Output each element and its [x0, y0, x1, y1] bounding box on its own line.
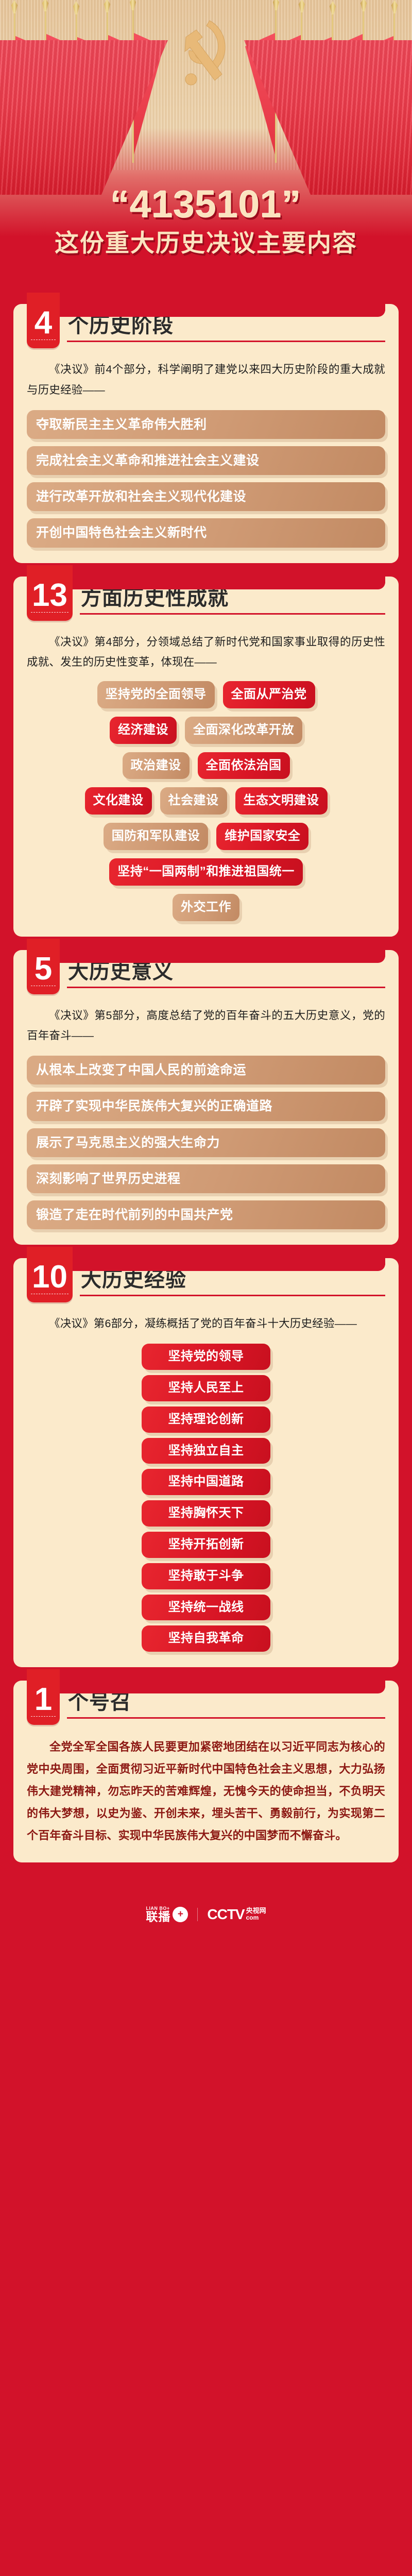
sections-container: 4个历史阶段《决议》前4个部分，科学阐明了建党以来四大历史阶段的重大成就与历史经…	[0, 304, 412, 1862]
hero-title-block: “4135101” 这份重大历史决议主要内容	[0, 185, 412, 257]
list-item[interactable]: 文化建设	[85, 787, 152, 815]
footer-logos: LIAN BO+ 联播 + CCTV 央视网 com	[0, 1876, 412, 1953]
card-top-notch	[27, 576, 385, 589]
section-card-5: 5大历史意义《决议》第5部分，高度总结了党的百年奋斗的五大历史意义，党的百年奋斗…	[13, 950, 399, 1245]
list-item[interactable]: 展示了马克思主义的强大生命力	[27, 1128, 385, 1157]
pill-row: 坚持党的全面领导全面从严治党	[27, 681, 385, 708]
pill-row: 外交工作	[27, 894, 385, 921]
section-heading-text: 方面历史性成就	[81, 586, 229, 610]
pill-row: 政治建设全面依法治国	[27, 752, 385, 779]
section-description: 《决议》前4个部分，科学阐明了建党以来四大历史阶段的重大成就与历史经验——	[27, 360, 385, 401]
section-card-4: 4个历史阶段《决议》前4个部分，科学阐明了建党以来四大历史阶段的重大成就与历史经…	[13, 304, 399, 563]
list-item[interactable]: 经济建设	[110, 717, 177, 744]
list-item[interactable]: 国防和军队建设	[104, 823, 209, 850]
footer-divider	[197, 1908, 198, 1921]
list-item[interactable]: 政治建设	[123, 752, 190, 779]
section-number-badge: 4	[27, 293, 60, 348]
section-number-badge: 13	[27, 565, 73, 621]
hero-banner: “4135101” 这份重大历史决议主要内容	[0, 0, 412, 304]
section-number-badge: 10	[27, 1247, 73, 1302]
cctv-logo-com: com	[246, 1914, 266, 1921]
list-item[interactable]: 坚持自我革命	[142, 1625, 270, 1652]
list-item[interactable]: 开辟了实现中华民族伟大复兴的正确道路	[27, 1092, 385, 1121]
section-description: 《决议》第5部分，高度总结了党的百年奋斗的五大历史意义，党的百年奋斗——	[27, 1006, 385, 1047]
list-item[interactable]: 坚持党的领导	[142, 1344, 270, 1370]
cctv-logo-cn: 央视网	[246, 1907, 266, 1914]
list-item[interactable]: 全面从严治党	[223, 681, 315, 708]
list-item[interactable]: 外交工作	[173, 894, 239, 921]
list-item[interactable]: 进行改革开放和社会主义现代化建设	[27, 482, 385, 511]
list-item[interactable]: 完成社会主义革命和推进社会主义建设	[27, 446, 385, 475]
section-card-13: 13方面历史性成就《决议》第4部分，分领域总结了新时代党和国家事业取得的历史性成…	[13, 577, 399, 937]
list-item[interactable]: 开创中国特色社会主义新时代	[27, 518, 385, 547]
list-item[interactable]: 维护国家安全	[216, 823, 308, 850]
pill-row: 国防和军队建设维护国家安全	[27, 823, 385, 850]
list-item[interactable]: 深刻影响了世界历史进程	[27, 1164, 385, 1193]
list-item[interactable]: 坚持党的全面领导	[97, 681, 215, 708]
card-top-notch	[27, 1258, 385, 1271]
poster-subtitle: 这份重大历史决议主要内容	[0, 230, 412, 257]
card-top-notch	[27, 1680, 385, 1693]
list-item[interactable]: 社会建设	[160, 787, 227, 815]
list-item[interactable]: 全面深化改革开放	[185, 717, 302, 744]
infographic-poster: “4135101” 这份重大历史决议主要内容 4个历史阶段《决议》前4个部分，科…	[0, 0, 412, 1953]
pill-row: 坚持“一国两制”和推进祖国统一	[27, 858, 385, 886]
final-call-text: 全党全军全国各族人民要更加紧密地团结在以习近平同志为核心的党中央周围，全面贯彻习…	[27, 1736, 385, 1846]
list-item[interactable]: 从根本上改变了中国人民的前途命运	[27, 1056, 385, 1084]
section-heading-text: 个历史阶段	[68, 314, 174, 337]
section-heading-text: 个号召	[68, 1690, 131, 1714]
pill-row: 经济建设全面深化改革开放	[27, 717, 385, 744]
section-card-10: 10大历史经验《决议》第6部分，凝练概括了党的百年奋斗十大历史经验——坚持党的领…	[13, 1258, 399, 1667]
card-top-notch	[27, 303, 385, 317]
list-item[interactable]: 坚持敢于斗争	[142, 1563, 270, 1589]
list-item[interactable]: 坚持“一国两制”和推进祖国统一	[109, 858, 303, 886]
list-item[interactable]: 锻造了走在时代前列的中国共产党	[27, 1200, 385, 1229]
list-item[interactable]: 坚持中国道路	[142, 1469, 270, 1495]
lianbo-logo-cn: 联播	[146, 1911, 170, 1923]
section-card-1: 1个号召全党全军全国各族人民要更加紧密地团结在以习近平同志为核心的党中央周围，全…	[13, 1681, 399, 1862]
section-heading-text: 大历史经验	[81, 1268, 186, 1292]
section-description: 《决议》第6部分，凝练概括了党的百年奋斗十大历史经验——	[27, 1314, 385, 1334]
pill-row: 文化建设社会建设生态文明建设	[27, 787, 385, 815]
list-item[interactable]: 夺取新民主主义革命伟大胜利	[27, 410, 385, 439]
section-item-list: 坚持党的领导坚持人民至上坚持理论创新坚持独立自主坚持中国道路坚持胸怀天下坚持开拓…	[27, 1344, 385, 1652]
section-item-list: 夺取新民主主义革命伟大胜利完成社会主义革命和推进社会主义建设进行改革开放和社会主…	[27, 410, 385, 548]
list-item[interactable]: 生态文明建设	[235, 787, 328, 815]
list-item[interactable]: 坚持开拓创新	[142, 1532, 270, 1558]
list-item[interactable]: 坚持统一战线	[142, 1595, 270, 1621]
section-heading-text: 大历史意义	[68, 960, 174, 984]
card-top-notch	[27, 950, 385, 963]
cctv-logo-main: CCTV	[207, 1906, 244, 1923]
lianbo-plus-icon: +	[173, 1907, 188, 1922]
section-item-list: 从根本上改变了中国人民的前途命运开辟了实现中华民族伟大复兴的正确道路展示了马克思…	[27, 1056, 385, 1229]
list-item[interactable]: 坚持胸怀天下	[142, 1500, 270, 1527]
section-item-rows: 坚持党的全面领导全面从严治党经济建设全面深化改革开放政治建设全面依法治国文化建设…	[27, 681, 385, 921]
list-item[interactable]: 全面依法治国	[198, 752, 290, 779]
list-item[interactable]: 坚持独立自主	[142, 1438, 270, 1464]
poster-title: “4135101”	[0, 185, 412, 224]
lianbo-logo: LIAN BO+ 联播 +	[146, 1906, 188, 1923]
list-item[interactable]: 坚持人民至上	[142, 1375, 270, 1401]
section-number-badge: 1	[27, 1669, 60, 1725]
cpc-emblem-icon	[173, 14, 239, 92]
section-number-badge: 5	[27, 939, 60, 994]
section-description: 《决议》第4部分，分领域总结了新时代党和国家事业取得的历史性成就、发生的历史性变…	[27, 632, 385, 673]
list-item[interactable]: 坚持理论创新	[142, 1406, 270, 1433]
cctv-logo: CCTV 央视网 com	[207, 1906, 266, 1923]
